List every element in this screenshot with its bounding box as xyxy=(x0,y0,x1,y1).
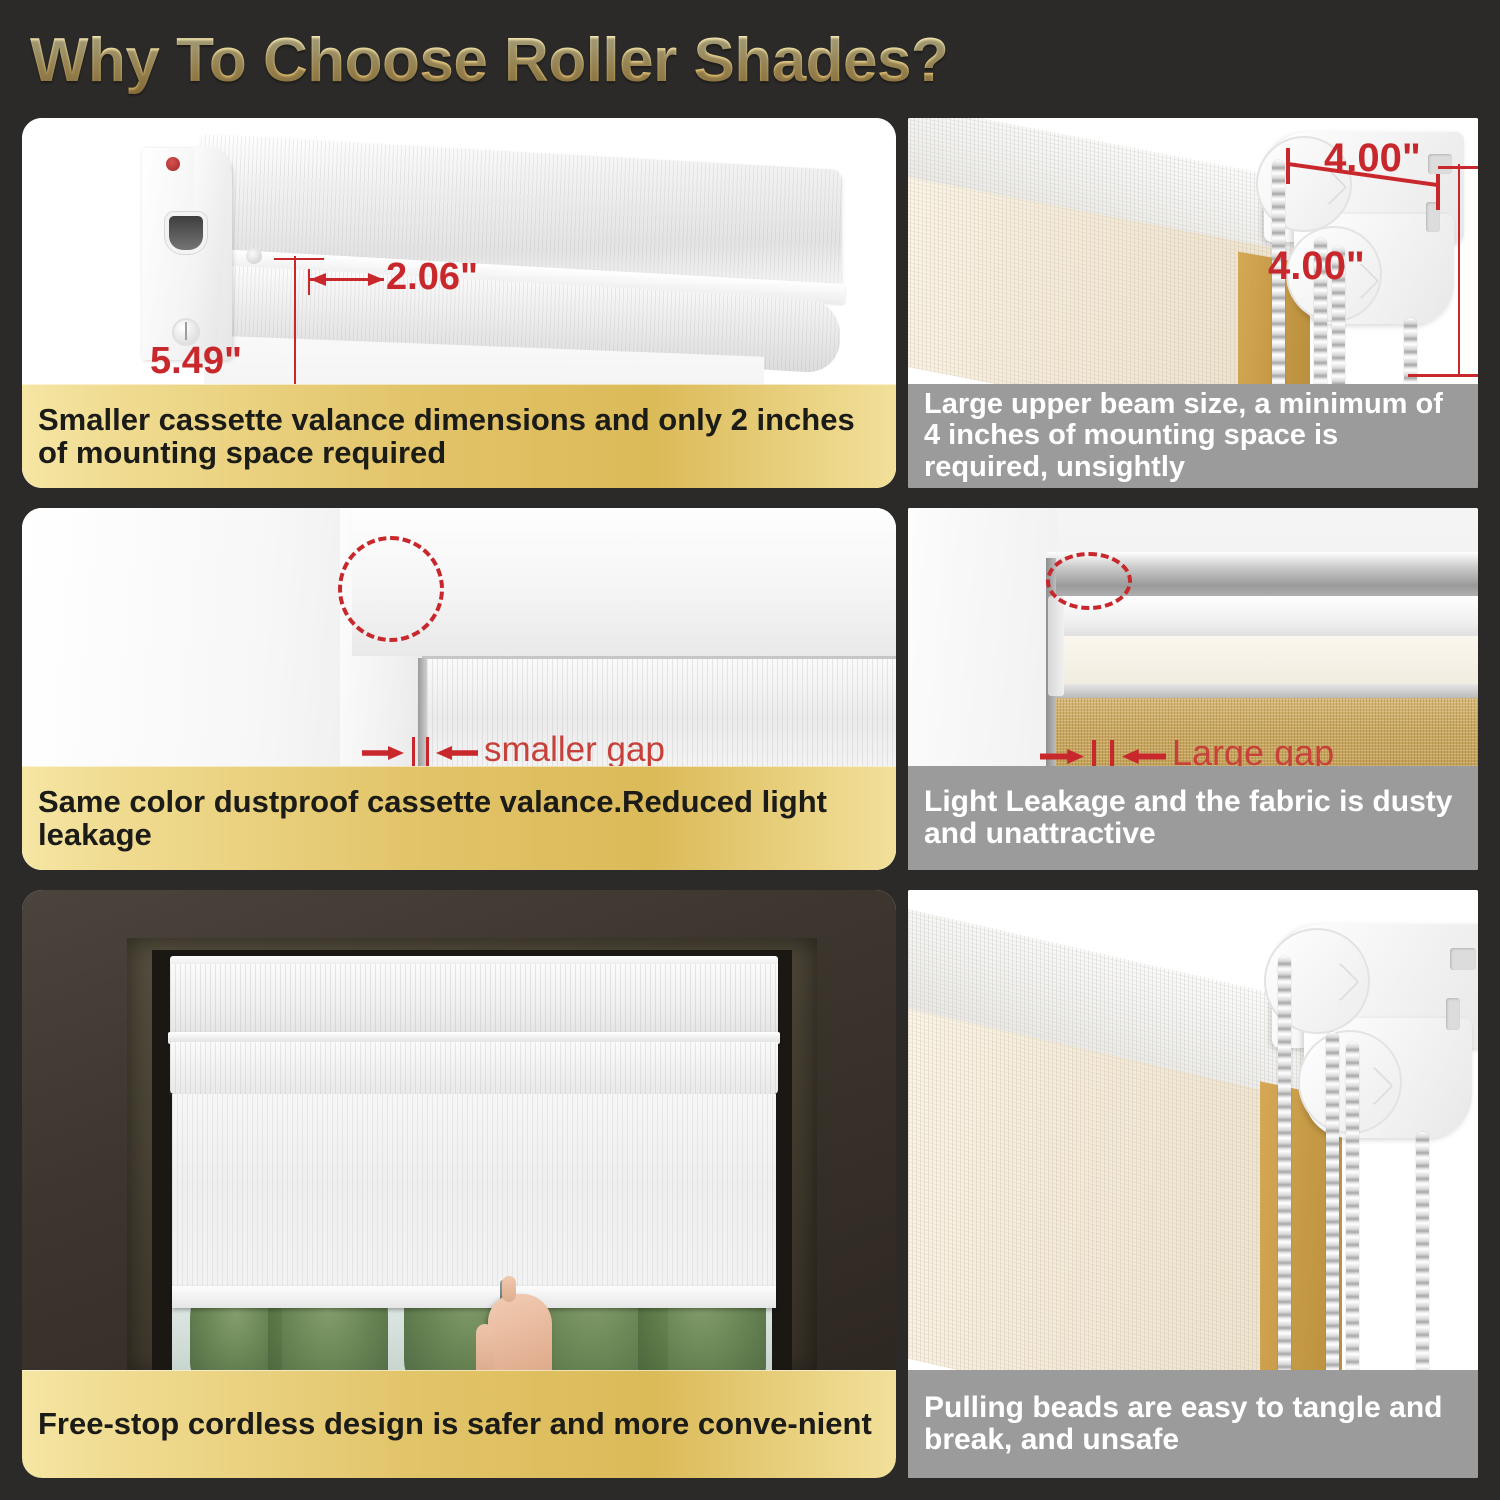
panel-caption-good-3: Free-stop cordless design is safer and m… xyxy=(22,1370,896,1478)
panel-caption-good-2: Same color dustproof cassette valance.Re… xyxy=(22,766,896,870)
side-clip xyxy=(1048,596,1064,696)
panel-large-upper-beam: 4.00" 4.00" Large upper beam size, a min… xyxy=(908,118,1478,488)
dim-tick-top xyxy=(274,258,324,260)
panel-cassette-dimensions: 2.06" 5.49" Smaller cassette valance dim… xyxy=(22,118,896,488)
bead-chain-2[interactable] xyxy=(1326,1032,1339,1376)
cassette-valance xyxy=(170,964,778,1036)
bead-chain-4 xyxy=(1404,318,1417,392)
bracket-slot-2 xyxy=(1446,998,1460,1030)
caption-text: Large upper beam size, a minimum of 4 in… xyxy=(924,389,1462,483)
shade-fabric xyxy=(172,1094,776,1294)
shade-bottom-bar xyxy=(172,1286,776,1308)
highlight-circle-icon xyxy=(338,536,444,642)
bracket-slot-1 xyxy=(1428,154,1452,174)
caption-text: Light Leakage and the fabric is dusty an… xyxy=(924,786,1462,851)
page-title-text: Why To Choose Roller Shades? xyxy=(30,25,948,96)
panel-dustproof-valance: smaller gap Same color dustproof cassett… xyxy=(22,508,896,870)
dimension-label-height-2: 4.00" xyxy=(1268,244,1365,289)
headrail-cream xyxy=(1048,636,1478,686)
gap-label-smaller: smaller gap xyxy=(484,730,665,770)
caption-text: Free-stop cordless design is safer and m… xyxy=(38,1407,872,1440)
page-title: Why To Choose Roller Shades? xyxy=(30,14,1230,106)
roller-tube xyxy=(170,1042,778,1094)
bead-chain-4[interactable] xyxy=(1416,1132,1429,1376)
caption-text: Same color dustproof cassette valance.Re… xyxy=(38,785,880,852)
end-cap-slot xyxy=(169,216,203,250)
bead-chain-3[interactable] xyxy=(1346,1042,1359,1376)
valance-screw-icon xyxy=(246,248,262,264)
cassette-valance-illustration xyxy=(142,148,842,363)
dim-tick-left xyxy=(308,269,310,295)
highlight-circle-icon xyxy=(1046,552,1132,610)
caption-text: Pulling beads are easy to tangle and bre… xyxy=(924,1392,1462,1457)
dimension-label-width-2: 4.00" xyxy=(1324,136,1421,181)
dim-tick-bottom-2 xyxy=(1408,374,1478,377)
panel-cordless-design: Free-stop cordless design is safer and m… xyxy=(22,890,896,1478)
panel-caption-bad-1: Large upper beam size, a minimum of 4 in… xyxy=(908,384,1478,488)
bead-chain-1[interactable] xyxy=(1278,956,1291,1376)
dim-tick-top-2 xyxy=(1438,166,1478,169)
bracket-slot-1 xyxy=(1450,948,1476,970)
dimension-label-width: 2.06" xyxy=(386,256,478,299)
panel-caption-bad-2: Light Leakage and the fabric is dusty an… xyxy=(908,766,1478,870)
dimension-label-height: 5.49" xyxy=(150,340,242,383)
panel-caption-good-1: Smaller cassette valance dimensions and … xyxy=(22,384,896,488)
panel-light-leakage: Large gap Light Leakage and the fabric i… xyxy=(908,508,1478,870)
panel-caption-bad-3: Pulling beads are easy to tangle and bre… xyxy=(908,1370,1478,1478)
valance-end-cap xyxy=(142,148,232,360)
panel-pulling-beads: Pulling beads are easy to tangle and bre… xyxy=(908,890,1478,1478)
dim-line-height-2 xyxy=(1458,164,1460,376)
dim-tick-right-2 xyxy=(1436,174,1440,210)
end-cap-bolt-icon xyxy=(166,157,180,171)
caption-text: Smaller cassette valance dimensions and … xyxy=(38,403,880,470)
